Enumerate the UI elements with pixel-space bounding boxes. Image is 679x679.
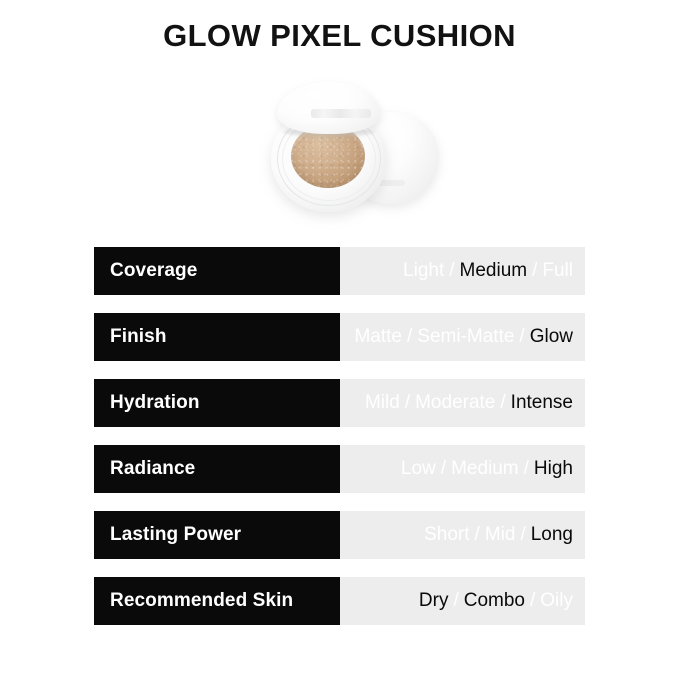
spec-row: FinishMatte/Semi-Matte/Glow [94, 313, 585, 361]
spec-option-high: High [534, 458, 573, 480]
spec-option-oily: Oily [540, 590, 573, 612]
spec-values: Short/Mid/Long [340, 511, 585, 559]
spec-option-long: Long [531, 524, 573, 546]
option-separator: / [402, 326, 417, 348]
spec-row: RadianceLow/Medium/High [94, 445, 585, 493]
spec-label-lasting-power: Lasting Power [94, 511, 340, 559]
spec-option-semi-matte: Semi-Matte [417, 326, 514, 348]
spec-option-medium: Medium [451, 458, 519, 480]
spec-table: CoverageLight/Medium/FullFinishMatte/Sem… [94, 247, 585, 625]
spec-option-dry: Dry [419, 590, 449, 612]
spec-option-combo: Combo [464, 590, 525, 612]
spec-option-full: Full [542, 260, 573, 282]
spec-values: Mild/Moderate/Intense [340, 379, 585, 427]
spec-option-moderate: Moderate [415, 392, 495, 414]
spec-option-medium: Medium [460, 260, 528, 282]
spec-values: Light/Medium/Full [340, 247, 585, 295]
spec-values: Dry/Combo/Oily [340, 577, 585, 625]
compact-lid [277, 82, 381, 134]
spec-label-recommended-skin: Recommended Skin [94, 577, 340, 625]
spec-label-coverage: Coverage [94, 247, 340, 295]
option-separator: / [527, 260, 542, 282]
option-separator: / [514, 326, 529, 348]
spec-row: Recommended SkinDry/Combo/Oily [94, 577, 585, 625]
spec-row: CoverageLight/Medium/Full [94, 247, 585, 295]
option-separator: / [448, 590, 463, 612]
spec-option-mild: Mild [365, 392, 400, 414]
spec-row: Lasting PowerShort/Mid/Long [94, 511, 585, 559]
option-separator: / [519, 458, 534, 480]
option-separator: / [400, 392, 415, 414]
option-separator: / [444, 260, 459, 282]
spec-option-mid: Mid [485, 524, 516, 546]
spec-label-hydration: Hydration [94, 379, 340, 427]
option-separator: / [436, 458, 451, 480]
spec-option-light: Light [403, 260, 444, 282]
spec-values: Matte/Semi-Matte/Glow [340, 313, 585, 361]
option-separator: / [470, 524, 485, 546]
spec-label-finish: Finish [94, 313, 340, 361]
spec-option-short: Short [424, 524, 469, 546]
spec-label-radiance: Radiance [94, 445, 340, 493]
lid-brand-emboss [311, 109, 371, 118]
spec-option-intense: Intense [511, 392, 573, 414]
spec-values: Low/Medium/High [340, 445, 585, 493]
page-title: GLOW PIXEL CUSHION [0, 18, 679, 54]
option-separator: / [525, 590, 540, 612]
cushion-compact-illustration [265, 72, 450, 222]
option-separator: / [495, 392, 510, 414]
spec-option-low: Low [401, 458, 436, 480]
spec-option-glow: Glow [530, 326, 573, 348]
product-image-area [0, 72, 679, 222]
option-separator: / [515, 524, 530, 546]
spec-option-matte: Matte [354, 326, 402, 348]
spec-row: HydrationMild/Moderate/Intense [94, 379, 585, 427]
